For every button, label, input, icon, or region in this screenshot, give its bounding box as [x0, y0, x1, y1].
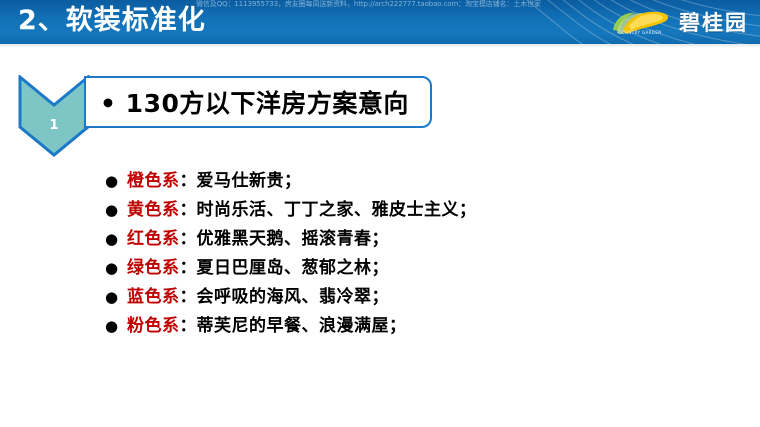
list-item-text: 会呼吸的海风、翡冷翠；: [197, 282, 390, 307]
list-item-text: 时尚乐活、丁丁之家、雅皮士主义；: [197, 195, 477, 220]
list-item-text: 蒂芙尼的早餐、浪漫满屋；: [197, 311, 407, 336]
brand-name: 碧桂园: [679, 7, 748, 37]
list-item-separator: ：: [180, 311, 197, 336]
slide-canvas: 微信及QQ：1113955733，房友圈每周送新资料，http://arch22…: [0, 0, 760, 427]
list-item-text: 爱马仕新贵；: [197, 166, 302, 191]
bullet-dot-icon: ●: [105, 254, 127, 283]
callout-title-text: • 130方以下洋房方案意向: [100, 84, 409, 120]
list-item-separator: ：: [180, 195, 197, 220]
list-item: ● 蓝色系 ： 会呼吸的海风、翡冷翠；: [105, 282, 725, 311]
country-garden-swoosh-logo-icon: COUNTRY GARDEN: [607, 7, 673, 37]
list-item-separator: ：: [180, 253, 197, 278]
list-item: ● 黄色系 ： 时尚乐活、丁丁之家、雅皮士主义；: [105, 195, 725, 224]
bullet-dot-icon: ●: [105, 312, 127, 341]
page-title: 2、软装标准化: [18, 3, 206, 39]
bullet-dot-icon: ●: [105, 167, 127, 196]
bullet-list: ● 橙色系 ： 爱马仕新贵； ● 黄色系 ： 时尚乐活、丁丁之家、雅皮士主义； …: [105, 166, 725, 340]
list-item-label: 绿色系: [127, 253, 180, 278]
list-item-separator: ：: [180, 166, 197, 191]
bullet-dot-icon: ●: [105, 225, 127, 254]
header-band: 微信及QQ：1113955733，房友圈每周送新资料，http://arch22…: [0, 0, 760, 44]
list-item-label: 橙色系: [127, 166, 180, 191]
watermark-text: 微信及QQ：1113955733，房友圈每周送新资料，http://arch22…: [196, 0, 616, 9]
bullet-dot-icon: ●: [105, 283, 127, 312]
bullet-dot-icon: ●: [105, 196, 127, 225]
chevron-down-callout-icon: [18, 75, 90, 157]
svg-text:COUNTRY GARDEN: COUNTRY GARDEN: [618, 30, 661, 35]
list-item-label: 红色系: [127, 224, 180, 249]
list-item-label: 蓝色系: [127, 282, 180, 307]
list-item: ● 红色系 ： 优雅黑天鹅、摇滚青春；: [105, 224, 725, 253]
brand-logo: COUNTRY GARDEN 碧桂园: [607, 6, 748, 38]
list-item: ● 橙色系 ： 爱马仕新贵；: [105, 166, 725, 195]
list-item-separator: ：: [180, 282, 197, 307]
list-item-separator: ：: [180, 224, 197, 249]
list-item: ● 粉色系 ： 蒂芙尼的早餐、浪漫满屋；: [105, 311, 725, 340]
header-divider: [0, 44, 760, 48]
list-item-label: 黄色系: [127, 195, 180, 220]
list-item-text: 优雅黑天鹅、摇滚青春；: [197, 224, 390, 249]
list-item-label: 粉色系: [127, 311, 180, 336]
callout-title-box: • 130方以下洋房方案意向: [84, 76, 432, 128]
list-item: ● 绿色系 ： 夏日巴厘岛、葱郁之林；: [105, 253, 725, 282]
list-item-text: 夏日巴厘岛、葱郁之林；: [197, 253, 390, 278]
callout-badge: 1: [18, 75, 90, 157]
